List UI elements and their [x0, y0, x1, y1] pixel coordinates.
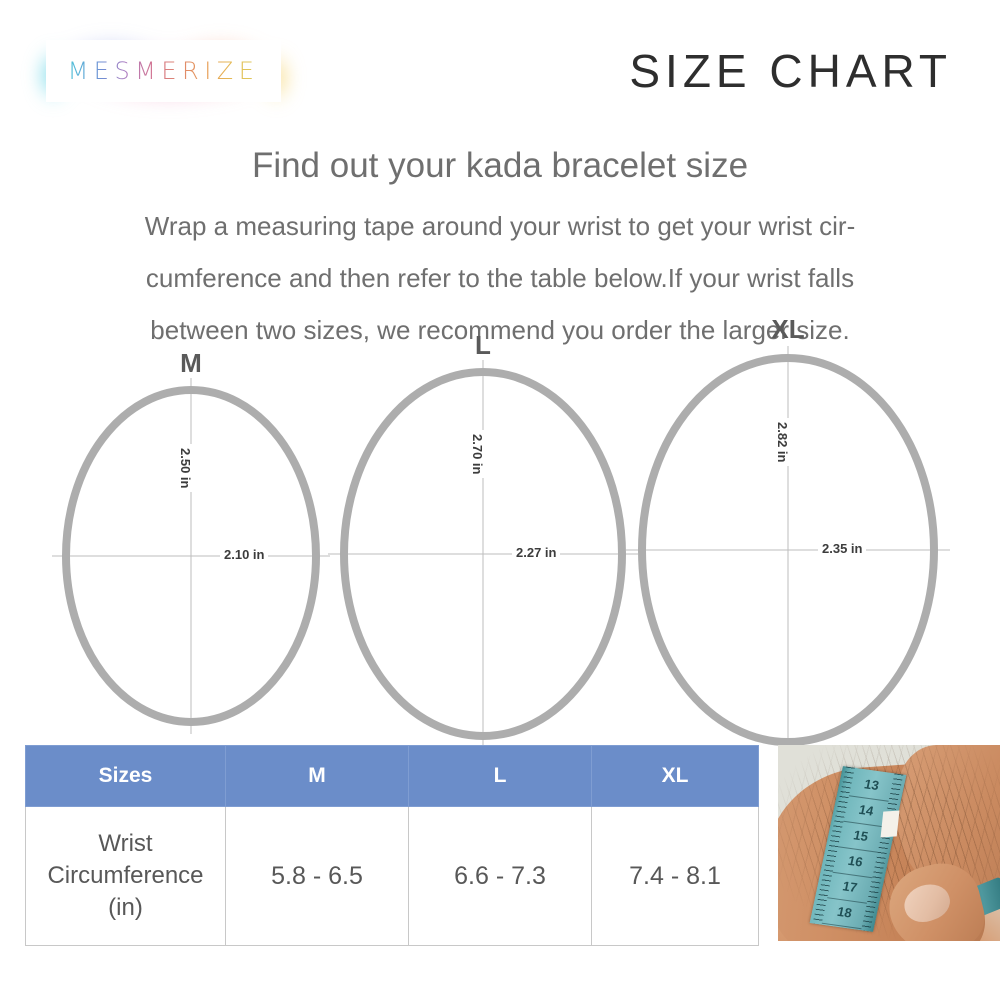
- tape-mark-18: 18: [822, 897, 867, 929]
- oval-diagram-l: L 2.27 in 2.70 in: [340, 368, 626, 740]
- row-label-wrist-circumference: Wrist Circumference (in): [26, 807, 226, 946]
- brand-logo: MESMERIZE: [46, 40, 281, 102]
- cell-wrist-l: 6.6 - 7.3: [409, 807, 592, 946]
- table-header-l: L: [409, 746, 592, 807]
- table-row: Wrist Circumference (in) 5.8 - 6.5 6.6 -…: [26, 807, 759, 946]
- table-header-m: M: [226, 746, 409, 807]
- table-header-row: Sizes M L XL: [26, 746, 759, 807]
- row-label-line-3: (in): [27, 892, 224, 924]
- cell-wrist-xl: 7.4 - 8.1: [592, 807, 759, 946]
- oval-width-label-l: 2.27 in: [512, 545, 560, 560]
- tape-end-tab: [881, 811, 900, 838]
- intro-line-2: cumference and then refer to the table b…: [50, 252, 950, 304]
- oval-diagram-m: M 2.10 in 2.50 in: [62, 386, 320, 726]
- oval-label-l: L: [340, 330, 626, 361]
- oval-diagram-xl: XL 2.35 in 2.82 in: [638, 354, 938, 746]
- page-title: SIZE CHART: [629, 44, 952, 98]
- logo-wordmark: MESMERIZE: [68, 57, 260, 85]
- row-label-line-1: Wrist: [27, 828, 224, 860]
- section-headline: Find out your kada bracelet size: [0, 146, 1000, 186]
- oval-height-label-m: 2.50 in: [178, 444, 193, 492]
- oval-shape-l: [340, 368, 626, 740]
- oval-height-label-xl: 2.82 in: [775, 418, 790, 466]
- table-header-sizes: Sizes: [26, 746, 226, 807]
- oval-shape-m: [62, 386, 320, 726]
- logo-card: MESMERIZE: [46, 40, 281, 102]
- oval-width-label-m: 2.10 in: [220, 547, 268, 562]
- cell-wrist-m: 5.8 - 6.5: [226, 807, 409, 946]
- table-header-xl: XL: [592, 746, 759, 807]
- oval-label-xl: XL: [638, 314, 938, 345]
- oval-label-m: M: [62, 348, 320, 379]
- size-table: Sizes M L XL Wrist Circumference (in) 5.…: [25, 745, 759, 946]
- oval-height-label-l: 2.70 in: [470, 430, 485, 478]
- oval-width-label-xl: 2.35 in: [818, 541, 866, 556]
- intro-line-1: Wrap a measuring tape around your wrist …: [50, 200, 950, 252]
- row-label-line-2: Circumference: [27, 860, 224, 892]
- oval-diagram-group: M 2.10 in 2.50 in L 2.27 in 2.70 in XL 2…: [0, 340, 1000, 740]
- wrist-measuring-photo: 13 14 15 16 17 18: [778, 745, 1000, 941]
- oval-shape-xl: [638, 354, 938, 746]
